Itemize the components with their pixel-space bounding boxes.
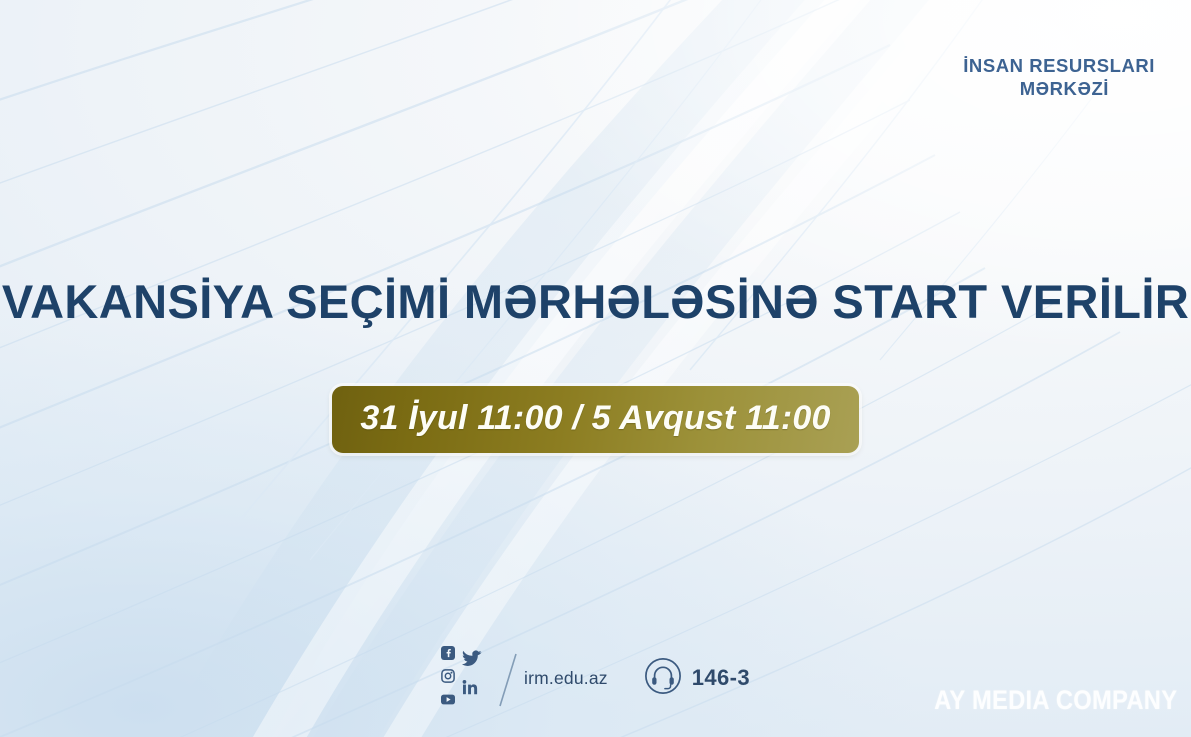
slash-divider — [496, 652, 522, 704]
website-link[interactable]: irm.edu.az — [524, 668, 608, 689]
watermark: AY MEDIA COMPANY — [934, 685, 1177, 716]
social-column-right — [462, 646, 482, 700]
background-wash-upper-right — [0, 0, 1191, 737]
page-title: VAKANSİYA SEÇİMİ MƏRHƏLƏSİNƏ START VERİL… — [0, 277, 1191, 327]
headset-icon — [644, 657, 682, 700]
date-badge-container: 31 İyul 11:00 / 5 Avqust 11:00 — [0, 386, 1191, 453]
brand-logo-line2: MƏRKƏZİ — [963, 78, 1155, 101]
date-badge-label: 31 İyul 11:00 / 5 Avqust 11:00 — [360, 399, 830, 438]
youtube-icon[interactable] — [441, 692, 455, 710]
twitter-icon[interactable] — [462, 650, 482, 672]
social-column-left — [441, 646, 455, 710]
brand-logo: İNSAN RESURSLARI MƏRKƏZİ — [963, 55, 1155, 100]
call-center-number: 146-3 — [692, 665, 750, 691]
date-badge: 31 İyul 11:00 / 5 Avqust 11:00 — [332, 386, 858, 453]
banner-canvas: İNSAN RESURSLARI MƏRKƏZİ VAKANSİYA SEÇİM… — [0, 0, 1191, 737]
facebook-icon[interactable] — [441, 646, 455, 665]
call-center[interactable]: 146-3 — [644, 657, 750, 700]
social-links — [441, 646, 482, 710]
brand-logo-line1: İNSAN RESURSLARI — [963, 55, 1155, 78]
linkedin-icon[interactable] — [462, 680, 482, 700]
instagram-icon[interactable] — [441, 669, 455, 688]
